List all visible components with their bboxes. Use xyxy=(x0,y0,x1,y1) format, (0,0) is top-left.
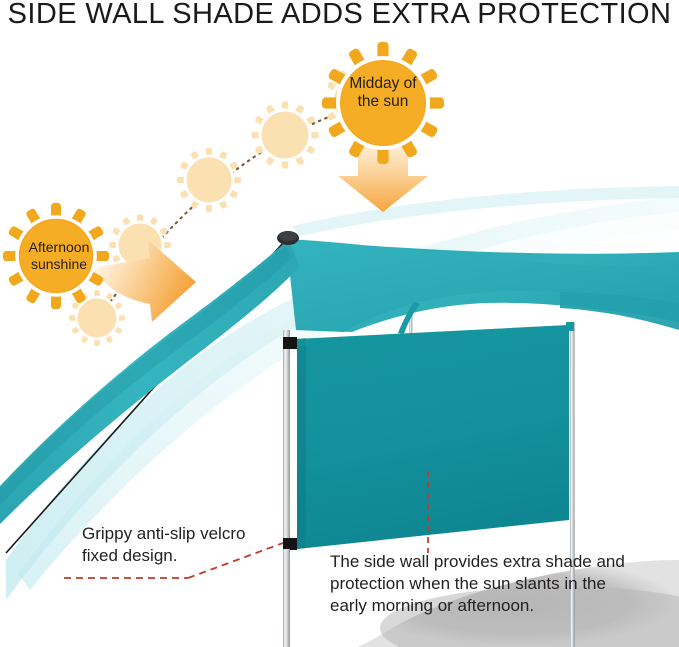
infographic-canvas: SIDE WALL SHADE ADDS EXTRA PROTECTION Mi… xyxy=(0,0,679,647)
velcro-tab-left xyxy=(283,337,297,349)
callout-sidewall-text: The side wall provides extra shade and p… xyxy=(330,551,675,617)
midday-sun-label: Midday of the sun xyxy=(327,75,439,112)
callout-velcro-text: Grippy anti-slip velcro fixed design. xyxy=(82,523,317,567)
page-title: SIDE WALL SHADE ADDS EXTRA PROTECTION xyxy=(0,0,679,31)
side-wall-edge-shade xyxy=(297,338,306,549)
canopy-apex-cap-icon xyxy=(277,231,299,245)
faded-sun-icon xyxy=(251,101,318,168)
afternoon-sun-label: Afternoon sunshine xyxy=(9,239,109,272)
side-wall-panel xyxy=(297,325,569,549)
faded-sun-icon xyxy=(177,148,241,212)
velcro-tab-right xyxy=(566,322,574,331)
